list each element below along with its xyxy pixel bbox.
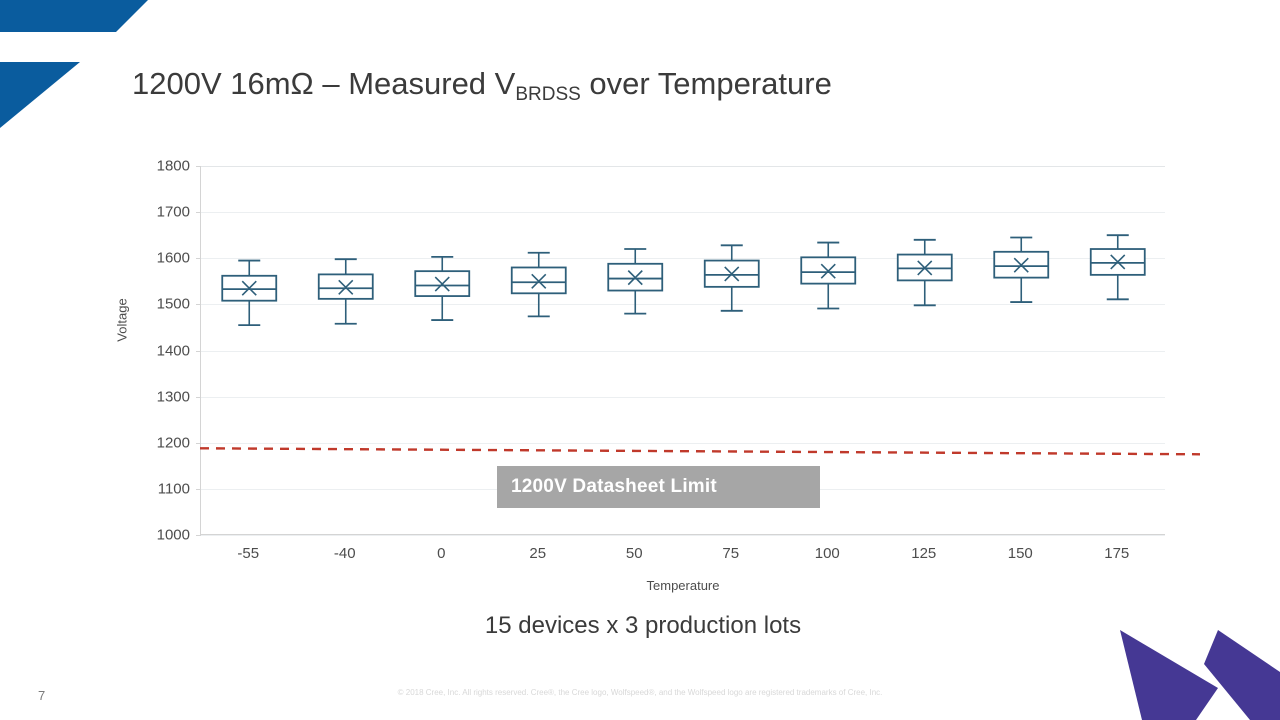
limit-line-stroke — [200, 448, 1200, 454]
y-axis-tick-label: 1300 — [120, 388, 190, 405]
boxplot-box — [898, 240, 952, 305]
footer-copyright: © 2018 Cree, Inc. All rights reserved. C… — [398, 688, 883, 697]
boxplot-box — [994, 237, 1048, 302]
y-axis-tick-label: 1200 — [120, 434, 190, 451]
y-axis-tick-label: 1100 — [120, 480, 190, 497]
y-axis-tick-mark — [196, 535, 201, 536]
y-axis-tick-label: 1600 — [120, 250, 190, 267]
x-axis-tick-label: 100 — [815, 545, 840, 562]
boxplot-box — [222, 261, 276, 326]
datasheet-limit-label: 1200V Datasheet Limit — [497, 466, 820, 508]
datasheet-limit-line — [200, 430, 1200, 470]
x-axis-tick-label: -40 — [334, 545, 356, 562]
x-axis-tick-label: 125 — [911, 545, 936, 562]
chart-caption: 15 devices x 3 production lots — [485, 612, 801, 640]
boxplot-box — [801, 243, 855, 309]
boxplot-box — [1091, 235, 1145, 299]
slide: 1200V 16mΩ – Measured VBRDSS over Temper… — [0, 0, 1280, 720]
x-axis-tick-label: 25 — [529, 545, 546, 562]
x-axis-tick-label: 150 — [1008, 545, 1033, 562]
y-axis-tick-label: 1700 — [120, 204, 190, 221]
boxplot-box — [512, 253, 566, 317]
y-axis-tick-label: 1400 — [120, 342, 190, 359]
y-axis-tick-label: 1500 — [120, 296, 190, 313]
page-number: 7 — [38, 688, 45, 703]
boxplot-box — [415, 257, 469, 320]
x-axis-tick-label: 50 — [626, 545, 643, 562]
gridline — [201, 535, 1165, 536]
y-axis-tick-label: 1000 — [120, 527, 190, 544]
y-axis-tick-label: 1800 — [120, 158, 190, 175]
boxplot-box — [608, 249, 662, 314]
x-axis-tick-label: 75 — [722, 545, 739, 562]
x-axis-tick-label: 0 — [437, 545, 445, 562]
x-axis-title: Temperature — [647, 578, 720, 593]
x-axis-tick-label: -55 — [237, 545, 259, 562]
x-axis-tick-label: 175 — [1104, 545, 1129, 562]
boxplot-box — [705, 245, 759, 310]
boxplot-box — [319, 259, 373, 324]
